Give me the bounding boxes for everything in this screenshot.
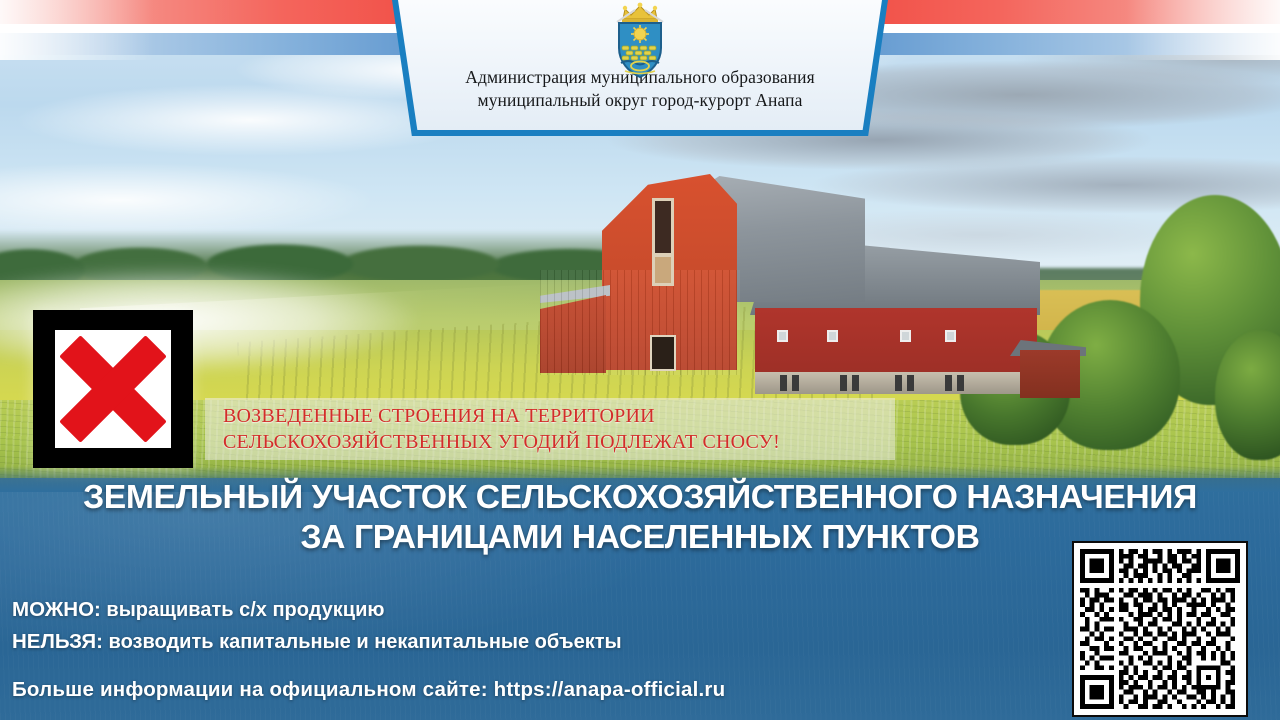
red-barn: [540, 150, 1030, 410]
barn-vent: [780, 375, 787, 391]
barn-vent: [840, 375, 847, 391]
barn-hay-door: [652, 198, 674, 256]
anapa-coat-of-arms-icon: [595, 2, 685, 80]
rule-forbidden-label: НЕЛЬЗЯ:: [12, 630, 103, 653]
barn-main-door: [650, 335, 676, 371]
barn-wing-wall: [755, 308, 1037, 380]
barn-vent: [895, 375, 902, 391]
land-use-rules: МОЖНО: выращивать с/х продукцию НЕЛЬЗЯ: …: [12, 594, 622, 658]
barn-window: [777, 330, 788, 342]
barn-window: [945, 330, 956, 342]
rule-forbidden-value: возводить капитальные и некапитальные об…: [109, 631, 622, 653]
poster-root: Администрация муниципального образования…: [0, 0, 1280, 720]
demolition-warning: ВОЗВЕДЕННЫЕ СТРОЕНИЯ НА ТЕРРИТОРИИ СЕЛЬС…: [205, 398, 895, 460]
barn-vent: [957, 375, 964, 391]
barn-window: [827, 330, 838, 342]
warning-line1: ВОЗВЕДЕННЫЕ СТРОЕНИЯ НА ТЕРРИТОРИИ: [223, 403, 895, 429]
barn-vent: [852, 375, 859, 391]
barn-hay-door-lower: [652, 254, 674, 286]
rule-allowed-value: выращивать с/х продукцию: [106, 599, 384, 621]
barn-vent: [945, 375, 952, 391]
red-cross-prohibition-sign-icon: [33, 310, 193, 468]
warning-line2: СЕЛЬСКОХОЗЯЙСТВЕННЫХ УГОДИЙ ПОДЛЕЖАТ СНО…: [223, 429, 895, 455]
qr-code[interactable]: [1072, 541, 1248, 717]
rule-forbidden: НЕЛЬЗЯ: возводить капитальные и некапита…: [12, 626, 622, 658]
footer-website-note[interactable]: Больше информации на официальном сайте: …: [12, 678, 725, 702]
barn-window: [900, 330, 911, 342]
barn-shed: [1020, 350, 1080, 398]
rule-allowed: МОЖНО: выращивать с/х продукцию: [12, 594, 622, 626]
rule-allowed-label: МОЖНО:: [12, 598, 101, 621]
barn-vent: [792, 375, 799, 391]
administration-title-line2: муниципальный округ город-курорт Анапа: [396, 89, 884, 112]
barn-vent: [907, 375, 914, 391]
page-title-line1: ЗЕМЕЛЬНЫЙ УЧАСТОК СЕЛЬСКОХОЗЯЙСТВЕННОГО …: [0, 477, 1280, 517]
